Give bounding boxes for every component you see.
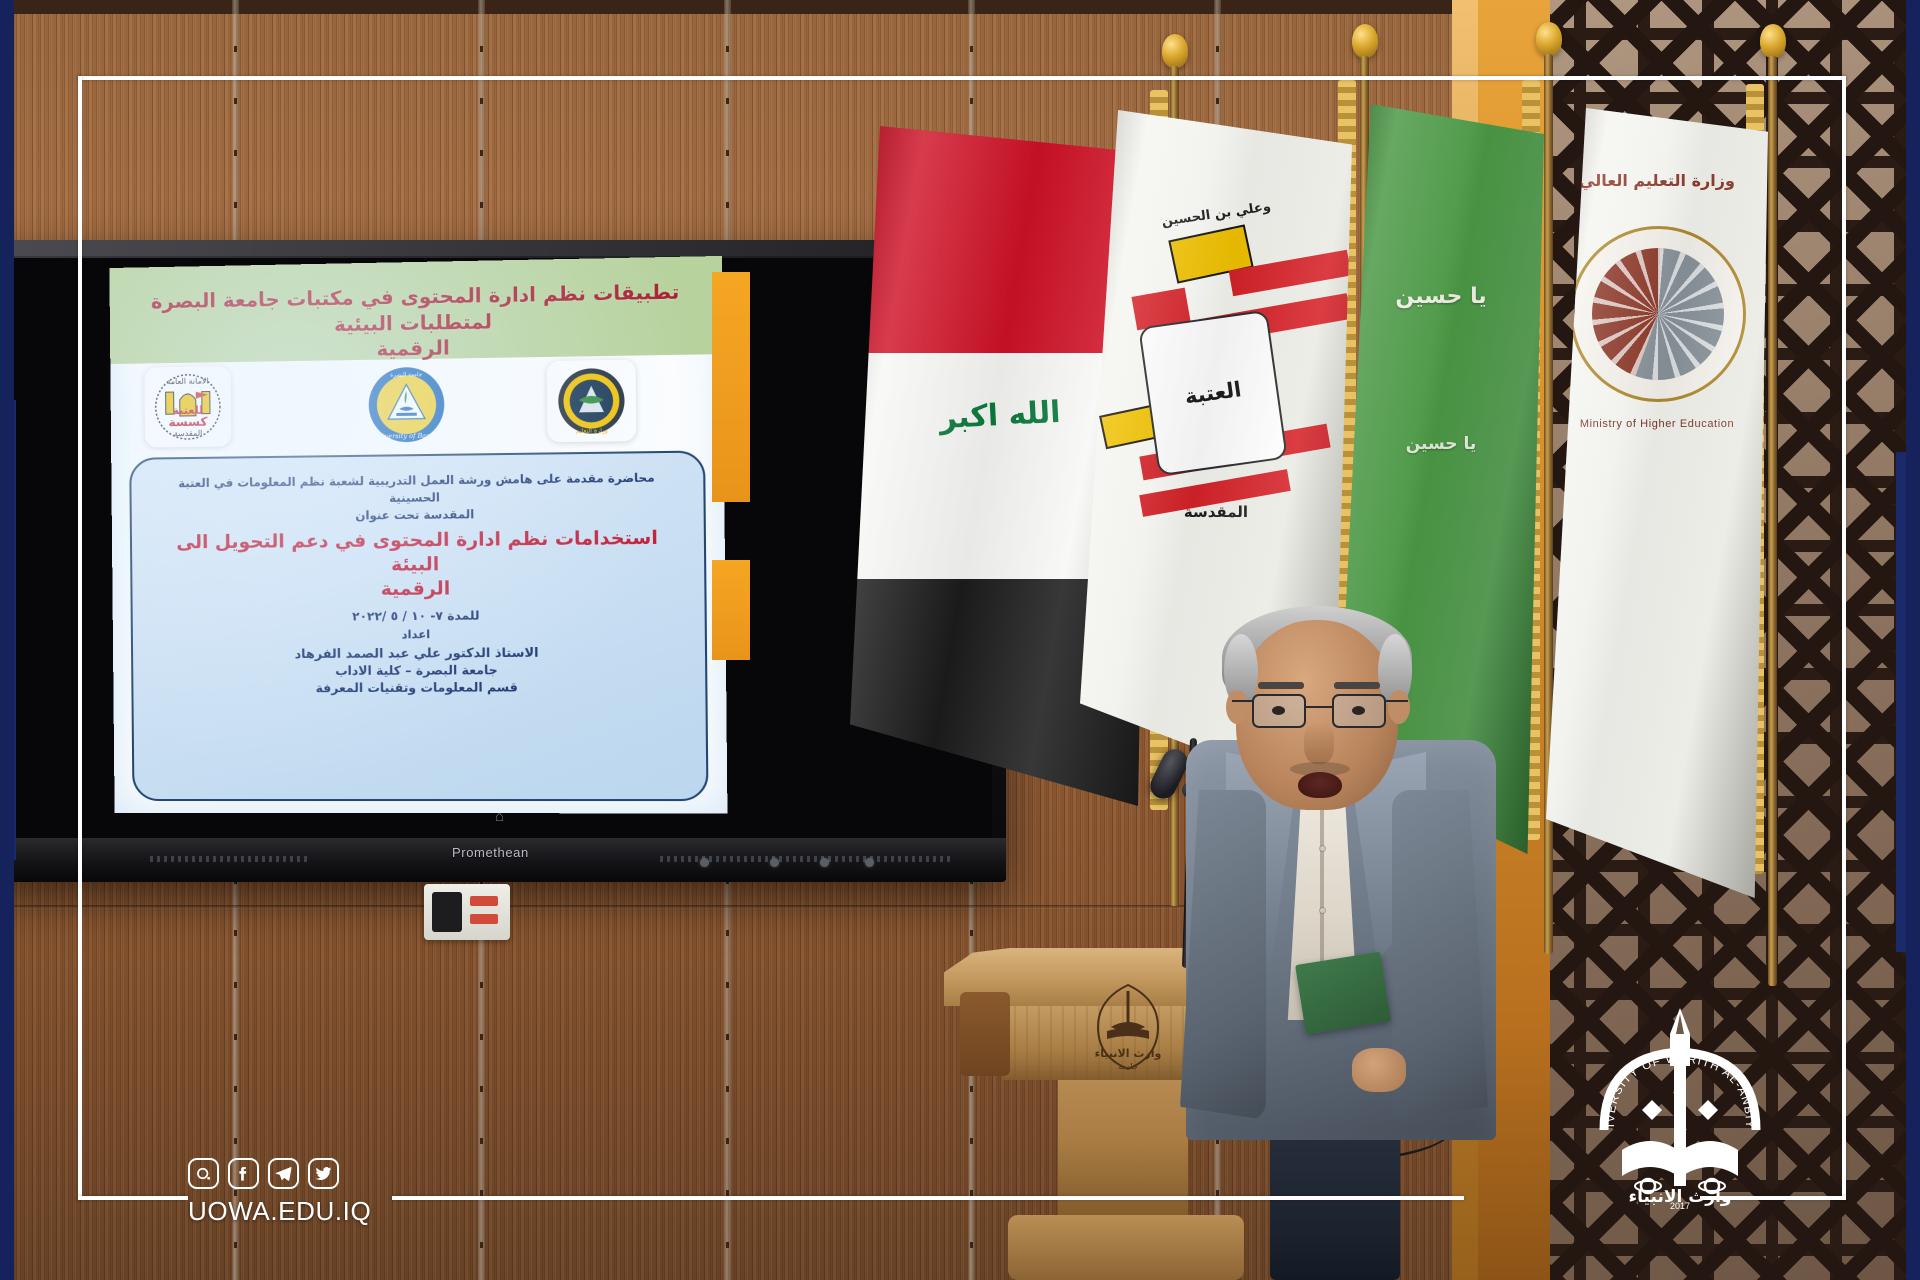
speaker-hand <box>1352 1048 1406 1092</box>
speaker-ear-right <box>1388 690 1410 724</box>
projection-orange-band-top <box>712 272 750 502</box>
telegram-icon[interactable] <box>268 1158 299 1189</box>
smartboard-brand-label: Promethean <box>452 845 529 860</box>
basrah-university-seal: University of Basrah جامعة البصرة <box>365 364 447 446</box>
svg-text:University of Basrah: University of Basrah <box>373 432 441 441</box>
husseini-shield: العتبة <box>1138 310 1288 477</box>
slide-body-panel: محاضرة مقدمة على هامش ورشة العمل التدريب… <box>129 450 708 801</box>
slide-title-line-2: الرقمية <box>376 337 449 361</box>
instagram-icon[interactable] <box>188 1158 219 1189</box>
slide-duration: للمدة ٧- ١٠ / ٥ /٢٠٢٢ <box>155 607 682 625</box>
speaker-eye-right <box>1352 706 1365 715</box>
warith-al-anbiyaa-logo-mark: UNIVERSITY OF WARITH AL-ANBIYAA وارث الا… <box>1580 1000 1780 1210</box>
husseini-shield-text: العتبة <box>1140 312 1285 474</box>
speaker-brow-left <box>1258 682 1304 689</box>
slide-prepared-by-label: اعداد <box>155 625 682 642</box>
speaker-shirt-button <box>1320 908 1325 913</box>
mohesr-emblem-inner <box>1592 248 1724 380</box>
socket-switch[interactable] <box>470 896 498 906</box>
speaker-ear-left <box>1226 690 1248 724</box>
website-url[interactable]: UOWA.EDU.IQ <box>188 1196 371 1227</box>
twitter-glyph <box>314 1164 333 1183</box>
svg-text:وزارة التعليم: وزارة التعليم <box>575 427 608 435</box>
projection-orange-band-bottom <box>712 560 750 660</box>
frame-left-line <box>78 76 82 1200</box>
smartboard-volume-button[interactable] <box>865 858 874 867</box>
frame-bottom-mid-line <box>392 1196 1464 1200</box>
podium-emblem: وارث الانبياء جامعة <box>1080 978 1176 1074</box>
svg-text:جامعة البصرة: جامعة البصرة <box>390 372 423 379</box>
university-of-warith-al-anbiyaa-logo: UNIVERSITY OF WARITH AL-ANBIYAA وارث الا… <box>1580 1000 1780 1210</box>
right-edge-strip <box>1906 0 1920 1280</box>
svg-text:الامانة العامة: الامانة العامة <box>166 376 208 386</box>
logo-year: 2017 <box>1670 1201 1690 1210</box>
mohesr-flag-cloth: وزارة التعليم العالي Ministry of Higher … <box>1546 108 1768 898</box>
speaker-glasses-arm-left <box>1232 700 1254 702</box>
mohesr-flag-latin: Ministry of Higher Education <box>1546 418 1768 430</box>
husseini-bottom-text: المقدسة <box>1080 504 1352 521</box>
flag-pole <box>1768 56 1777 986</box>
screen-home-icon[interactable]: ⌂ <box>495 808 504 825</box>
slide-main-title-line-2: الرقمية <box>381 578 451 600</box>
smartboard-input-button[interactable] <box>820 858 829 867</box>
facebook-icon[interactable] <box>228 1158 259 1189</box>
smartboard-speaker-grille <box>150 856 310 862</box>
socket-switch[interactable] <box>470 914 498 924</box>
slide-author: الاستاذ الدكتور علي عبد الصمد الفرهاد <box>155 644 682 662</box>
svg-text:جامعة: جامعة <box>1118 1062 1138 1071</box>
social-icon-row <box>188 1158 371 1189</box>
svg-text:وارث الانبياء: وارث الانبياء <box>1095 1047 1162 1060</box>
speaker-mouth <box>1298 772 1342 798</box>
telegram-glyph <box>274 1164 293 1183</box>
ministry-higher-education-logo: وزارة التعليم <box>547 360 637 443</box>
slide-main-title: استخدامات نظم ادارة المحتوى في دعم التحو… <box>154 526 682 603</box>
speaker-nose <box>1304 722 1334 764</box>
instagram-glyph <box>194 1164 213 1183</box>
speaker-eye-left <box>1272 706 1285 715</box>
slide-department: قسم المعلومات وتقنيات المعرفة <box>155 679 682 695</box>
twitter-icon[interactable] <box>308 1158 339 1189</box>
green-folder <box>1295 952 1391 1035</box>
warith-al-anbiyaa-carved-emblem: وارث الانبياء جامعة <box>1081 979 1175 1073</box>
speaker-glasses-bridge <box>1306 706 1332 708</box>
frame-bottom-left-line <box>78 1196 188 1200</box>
left-edge-strip <box>0 0 14 1280</box>
flag-finial <box>1536 22 1562 56</box>
presentation-slide: تطبيقات نظم ادارة المحتوى في مكتبات جامع… <box>109 256 727 813</box>
university-of-basrah-logo: University of Basrah جامعة البصرة <box>364 363 448 447</box>
frame-right-line <box>1842 76 1846 1200</box>
karbala-shrine-seal: للعتبة كسسة المقدسة الامانة العامة <box>147 369 228 444</box>
slide-main-title-line-1: استخدامات نظم ادارة المحتوى في دعم التحو… <box>176 527 658 575</box>
mohesr-seal: وزارة التعليم <box>550 363 633 440</box>
flag-finial <box>1162 34 1188 68</box>
green-flag-script: يا حسين <box>1354 284 1527 309</box>
slide-subtitle-line-1: محاضرة مقدمة على هامش ورشة العمل التدريب… <box>153 469 680 509</box>
social-branding-block: UOWA.EDU.IQ <box>188 1158 371 1227</box>
slide-title: تطبيقات نظم ادارة المحتوى في مكتبات جامع… <box>134 279 698 367</box>
ministry-higher-education-flag: وزارة التعليم العالي Ministry of Higher … <box>1590 0 1910 1010</box>
smartboard-menu-button[interactable] <box>770 858 779 867</box>
flag-finial <box>1760 24 1786 58</box>
slide-title-line-1: تطبيقات نظم ادارة المحتوى في مكتبات جامع… <box>151 280 680 336</box>
svg-text:كسسة: كسسة <box>168 415 207 430</box>
wall-power-socket[interactable] <box>424 884 510 940</box>
slide-logo-row: للعتبة كسسة المقدسة الامانة العامة Unive… <box>110 358 724 454</box>
svg-text:المقدسة: المقدسة <box>174 429 203 438</box>
green-flag-script-2: يا حسين <box>1354 434 1527 454</box>
speaker-shirt-button <box>1320 846 1325 851</box>
facebook-glyph <box>234 1164 253 1183</box>
podium-base <box>1008 1215 1244 1280</box>
speaker-glasses-arm-right <box>1386 700 1408 702</box>
slide-affiliation: جامعة البصرة – كلية الاداب <box>155 662 682 679</box>
smartboard-power-button[interactable] <box>700 858 709 867</box>
lecture-photograph: تطبيقات نظم ادارة المحتوى في مكتبات جامع… <box>0 0 1920 1280</box>
flag-finial <box>1352 24 1378 58</box>
frame-top-line <box>78 76 1846 80</box>
karbala-holy-shrine-logo: للعتبة كسسة المقدسة الامانة العامة <box>144 366 231 447</box>
speaker-brow-right <box>1334 682 1380 689</box>
podium-wing-left <box>960 992 1010 1076</box>
